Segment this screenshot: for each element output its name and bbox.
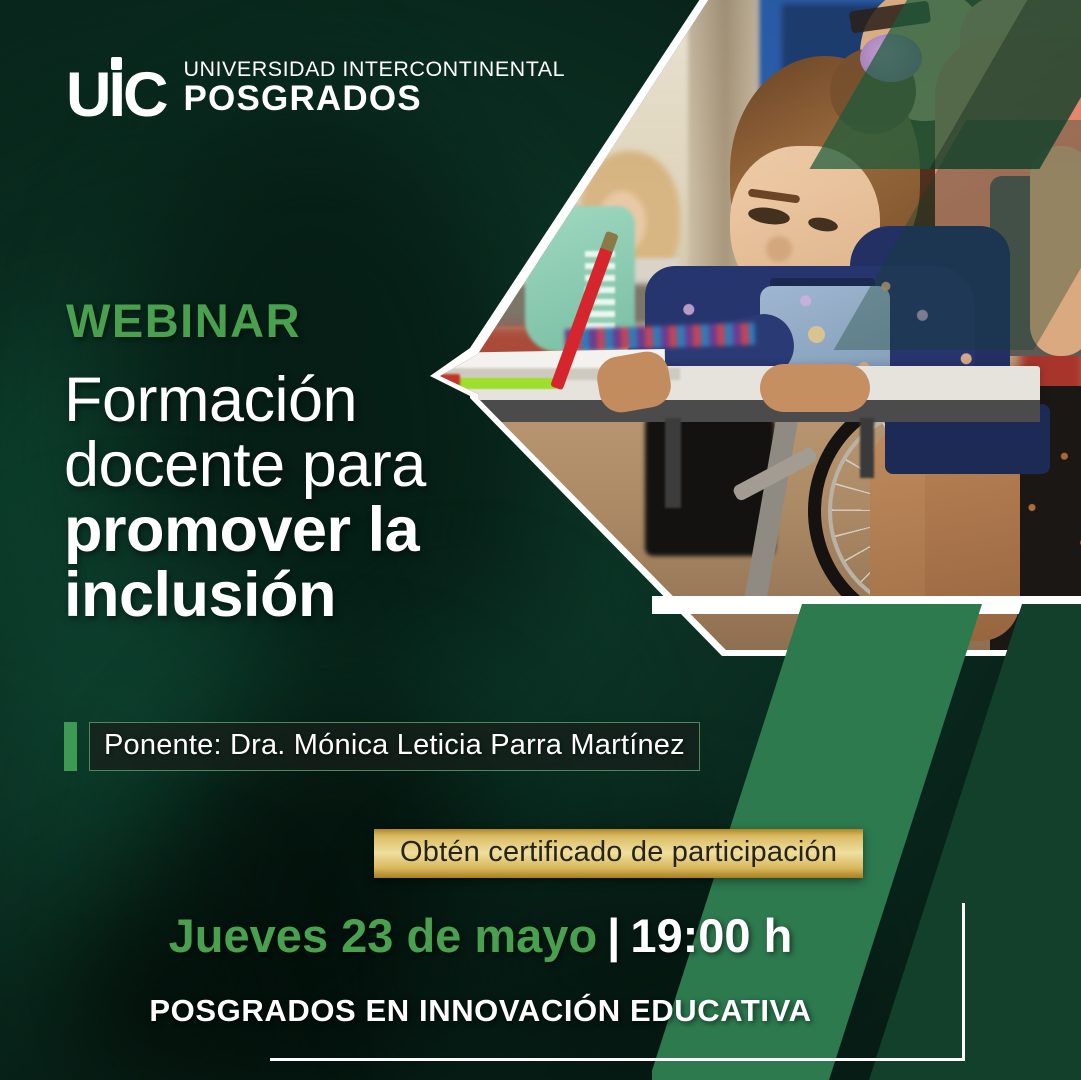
uic-logo-dot-icon	[111, 57, 122, 70]
webinar-poster: UIC UNIVERSIDAD INTERCONTINENTAL POSGRAD…	[0, 0, 1081, 1080]
title-line-bold-2: inclusión	[64, 563, 584, 628]
speaker-box: Ponente: Dra. Mónica Leticia Parra Martí…	[89, 722, 700, 771]
event-time: 19:00 h	[630, 909, 792, 962]
page-title: Formación docente para promover la inclu…	[64, 368, 584, 628]
title-line-light: Formación docente para	[64, 368, 584, 498]
uic-logo: UIC UNIVERSIDAD INTERCONTINENTAL POSGRAD…	[66, 58, 565, 121]
event-date: Jueves 23 de mayo	[169, 909, 598, 962]
datetime-separator: |	[607, 909, 620, 962]
certificate-label: Obtén certificado de participación	[400, 836, 837, 868]
uic-logo-mark-text: UIC	[66, 60, 166, 130]
program-tagline: POSGRADOS EN INNOVACIÓN EDUCATIVA	[0, 993, 1081, 1029]
speaker-block: Ponente: Dra. Mónica Leticia Parra Martí…	[64, 722, 700, 771]
posgrados-label: POSGRADOS	[184, 81, 566, 118]
university-name: UNIVERSIDAD INTERCONTINENTAL	[184, 58, 566, 81]
uic-logo-mark: UIC	[66, 70, 168, 122]
webinar-kicker: WEBINAR	[66, 293, 301, 348]
uic-logo-wordmark: UNIVERSIDAD INTERCONTINENTAL POSGRADOS	[184, 58, 566, 121]
speaker-accent-bar	[64, 722, 77, 771]
title-line-bold-1: promover la	[64, 498, 584, 563]
event-datetime: Jueves 23 de mayo|19:00 h	[0, 908, 1081, 963]
certificate-banner: Obtén certificado de participación	[374, 829, 863, 878]
speaker-name: Ponente: Dra. Mónica Leticia Parra Martí…	[104, 729, 685, 762]
